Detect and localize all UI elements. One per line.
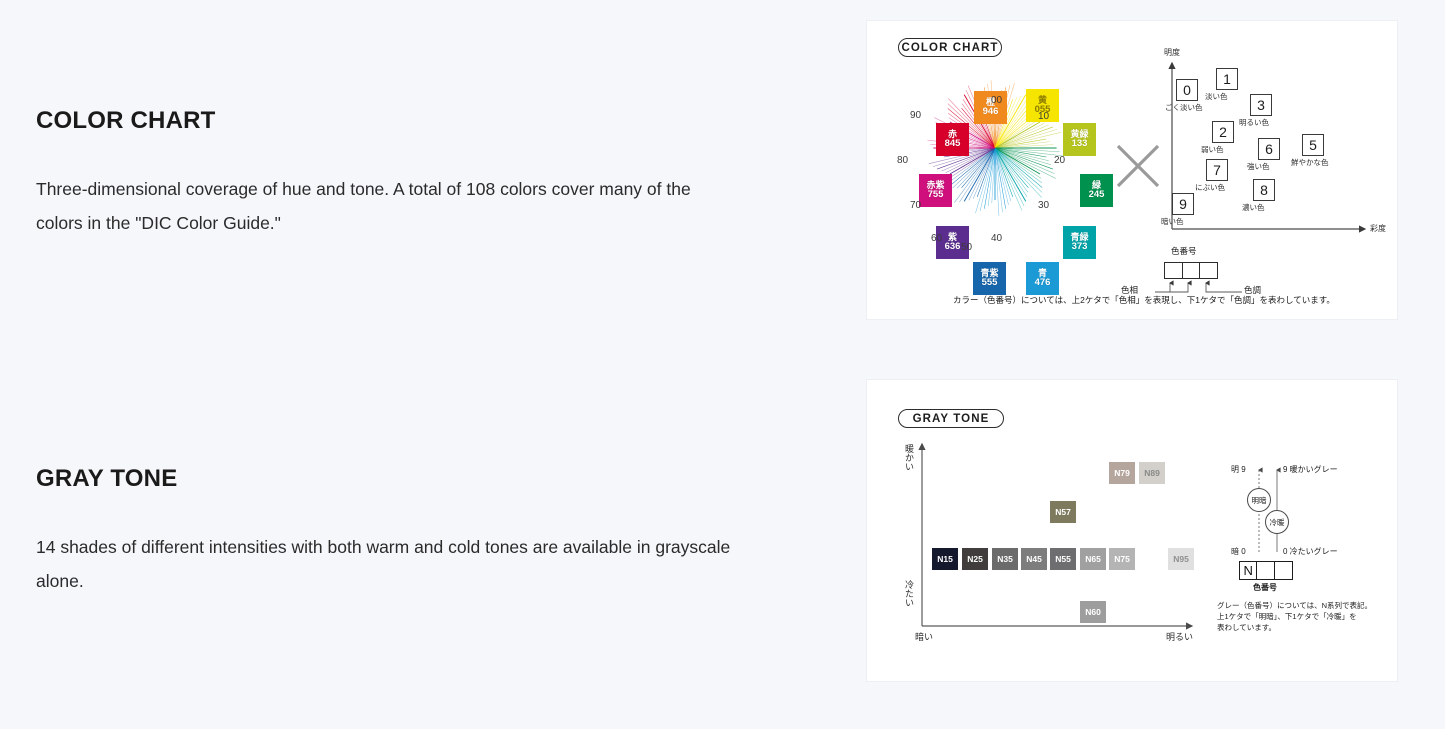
gray-swatch: N25 bbox=[962, 548, 988, 570]
tone-box: 9 bbox=[1172, 193, 1194, 215]
color-chart-card: COLOR CHART 橙946黄055黄緑133緑245青緑373青476青紫… bbox=[866, 20, 1398, 320]
legend-dark-0: 暗 0 bbox=[1231, 546, 1246, 557]
hue-angle-label: 70 bbox=[910, 200, 921, 211]
tone-box-label: にぶい色 bbox=[1195, 182, 1225, 193]
tone-box: 3 bbox=[1250, 94, 1272, 116]
tone-box-label: 明るい色 bbox=[1239, 117, 1269, 128]
color-wheel-diagram: 橙946黄055黄緑133緑245青緑373青476青紫555紫636赤紫755… bbox=[887, 51, 1102, 266]
gray-swatch: N75 bbox=[1109, 548, 1135, 570]
code-cell bbox=[1199, 262, 1218, 279]
tone-box-label: 暗い色 bbox=[1161, 216, 1184, 227]
gray-code-cell: N bbox=[1239, 561, 1258, 580]
description-color-chart: Three-dimensional coverage of hue and to… bbox=[36, 172, 736, 240]
hue-swatch-number: 245 bbox=[1089, 190, 1105, 200]
hue-angle-label: 60 bbox=[931, 233, 942, 244]
hue-angle-label: 40 bbox=[991, 233, 1002, 244]
hue-angle-label: 10 bbox=[1038, 111, 1049, 122]
page-title-gray-tone: GRAY TONE bbox=[36, 465, 177, 493]
page-title-color-chart: COLOR CHART bbox=[36, 107, 216, 135]
gray-swatch: N65 bbox=[1080, 548, 1106, 570]
gray-swatch: N79 bbox=[1109, 462, 1135, 484]
gray-swatch: N55 bbox=[1050, 548, 1076, 570]
code-cell bbox=[1164, 262, 1183, 279]
hue-swatch: 赤845 bbox=[936, 123, 969, 156]
hue-angle-label: 20 bbox=[1054, 155, 1065, 166]
tone-box: 5 bbox=[1302, 134, 1324, 156]
gray-swatch: N35 bbox=[992, 548, 1018, 570]
gray-swatch: N60 bbox=[1080, 601, 1106, 623]
hue-swatch: 緑245 bbox=[1080, 174, 1113, 207]
code-cell bbox=[1182, 262, 1201, 279]
gray-tone-caption-line: 上1ケタで「明暗」、下1ケタで「冷暖」を bbox=[1217, 611, 1372, 622]
tone-box-label: 強い色 bbox=[1247, 161, 1270, 172]
gray-tone-card: GRAY TONE 暖かい 冷たい 暗い 明るい N15N25N35N45N55… bbox=[866, 379, 1398, 682]
tone-axis-label-y: 明度 bbox=[1164, 47, 1180, 58]
tone-box: 2 bbox=[1212, 121, 1234, 143]
description-gray-tone: 14 shades of different intensities with … bbox=[36, 530, 736, 598]
page-root: COLOR CHART Three-dimensional coverage o… bbox=[0, 0, 1445, 729]
legend-circle-temperature: 冷暖 bbox=[1265, 510, 1289, 534]
hue-swatch: 青紫555 bbox=[973, 262, 1006, 295]
gray-tone-caption-line: グレー（色番号）については、N系列で表記。 bbox=[1217, 600, 1372, 611]
hue-swatch-number: 946 bbox=[983, 107, 999, 117]
hue-angle-label: 90 bbox=[910, 110, 921, 121]
hue-swatch-number: 845 bbox=[945, 139, 961, 149]
code-title: 色番号 bbox=[1171, 245, 1197, 257]
legend-cold-gray-0: 0 冷たいグレー bbox=[1283, 546, 1338, 557]
legend-circle-brightness: 明暗 bbox=[1247, 488, 1271, 512]
hue-swatch: 黄緑133 bbox=[1063, 123, 1096, 156]
gray-tone-badge: GRAY TONE bbox=[898, 409, 1004, 428]
hue-angle-label: 50 bbox=[961, 242, 972, 253]
gray-axis-label-warm: 暖かい bbox=[903, 444, 916, 471]
hue-swatch-number: 636 bbox=[945, 242, 961, 252]
tone-grid-diagram: 明度 彩度 0ごく淡い色1淡い色3明るい色2弱い色6強い色5鮮やかな色7にぶい色… bbox=[1162, 51, 1387, 256]
tone-box-label: 鮮やかな色 bbox=[1291, 157, 1329, 168]
gray-code-cell bbox=[1274, 561, 1293, 580]
gray-tone-plot: 暖かい 冷たい 暗い 明るい N15N25N35N45N55N65N75N95N… bbox=[887, 430, 1217, 655]
gray-axis-label-dark: 暗い bbox=[915, 630, 933, 643]
gray-swatch: N57 bbox=[1050, 501, 1076, 523]
gray-code-cells: N bbox=[1240, 561, 1293, 580]
hue-swatch-number: 755 bbox=[928, 190, 944, 200]
hue-swatch: 青476 bbox=[1026, 262, 1059, 295]
tone-box: 8 bbox=[1253, 179, 1275, 201]
gray-code-cell bbox=[1256, 561, 1275, 580]
hue-angle-label: 80 bbox=[897, 155, 908, 166]
hue-swatch: 青緑373 bbox=[1063, 226, 1096, 259]
hue-angle-label: 30 bbox=[1038, 200, 1049, 211]
hue-swatch: 赤紫755 bbox=[919, 174, 952, 207]
gray-code-legend: 明 9 9 暖かいグレー 暗 0 0 冷たいグレー 明暗 冷暖 N 色番号 グレ… bbox=[1217, 460, 1392, 640]
tone-box: 1 bbox=[1216, 68, 1238, 90]
hue-swatch-number: 373 bbox=[1072, 242, 1088, 252]
tone-box: 0 bbox=[1176, 79, 1198, 101]
gray-tone-caption-line: 表わしています。 bbox=[1217, 622, 1372, 633]
legend-bright-9: 明 9 bbox=[1231, 464, 1246, 475]
legend-warm-gray-9: 9 暖かいグレー bbox=[1283, 464, 1338, 475]
hue-swatch-number: 476 bbox=[1035, 278, 1051, 288]
hue-angle-label: 00 bbox=[991, 95, 1002, 106]
multiply-icon bbox=[1113, 141, 1163, 191]
tone-box-label: ごく淡い色 bbox=[1165, 102, 1203, 113]
gray-plot-axes-icon bbox=[887, 430, 1217, 650]
tone-box: 6 bbox=[1258, 138, 1280, 160]
code-cells bbox=[1165, 262, 1218, 279]
gray-code-cells-title: 色番号 bbox=[1253, 582, 1277, 593]
color-chart-caption: カラー（色番号）については、上2ケタで「色相」を表現し、下1ケタで「色調」を表わ… bbox=[953, 294, 1335, 306]
tone-box-label: 弱い色 bbox=[1201, 144, 1224, 155]
hue-swatch-number: 133 bbox=[1072, 139, 1088, 149]
tone-box: 7 bbox=[1206, 159, 1228, 181]
tone-box-label: 淡い色 bbox=[1205, 91, 1228, 102]
text-column: COLOR CHART Three-dimensional coverage o… bbox=[36, 0, 796, 729]
tone-axis-label-x: 彩度 bbox=[1370, 223, 1386, 234]
gray-swatch: N15 bbox=[932, 548, 958, 570]
tone-box-label: 濃い色 bbox=[1242, 202, 1265, 213]
gray-axis-label-bright: 明るい bbox=[1166, 630, 1193, 643]
gray-swatch: N89 bbox=[1139, 462, 1165, 484]
gray-swatch: N45 bbox=[1021, 548, 1047, 570]
hue-swatch-number: 555 bbox=[982, 278, 998, 288]
gray-swatch: N95 bbox=[1168, 548, 1194, 570]
gray-axis-label-cold: 冷たい bbox=[903, 580, 916, 607]
gray-tone-caption: グレー（色番号）については、N系列で表記。上1ケタで「明暗」、下1ケタで「冷暖」… bbox=[1217, 600, 1372, 633]
